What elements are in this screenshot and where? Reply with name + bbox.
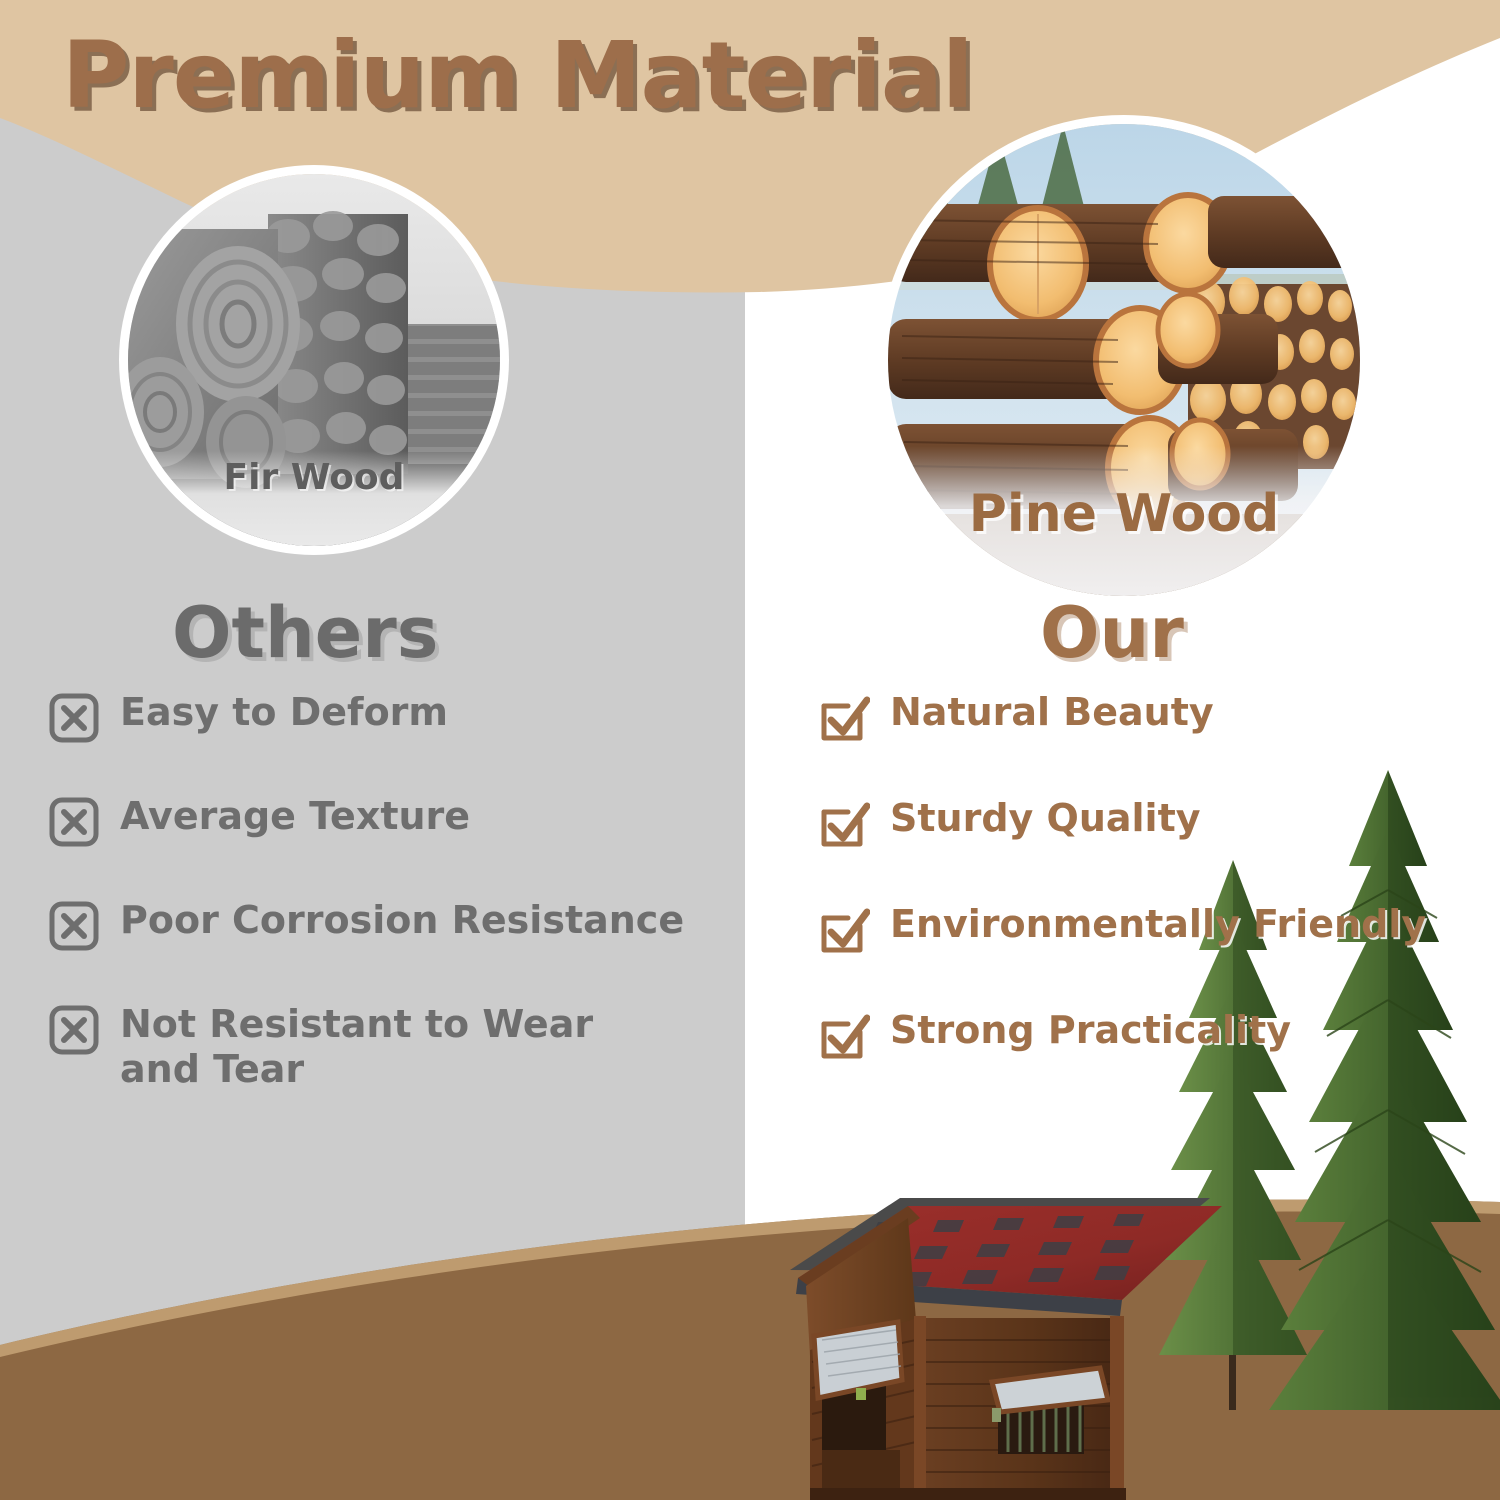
page-title: Premium Material bbox=[62, 22, 973, 129]
check-box-icon bbox=[818, 798, 870, 850]
list-item-label: Poor Corrosion Resistance bbox=[120, 898, 684, 943]
list-item: Strong Practicality bbox=[818, 1008, 1488, 1062]
x-box-icon bbox=[48, 692, 100, 744]
list-item: Environmentally Friendly bbox=[818, 902, 1488, 956]
list-item: Easy to Deform bbox=[48, 690, 738, 744]
our-column-heading: Our bbox=[1040, 592, 1184, 674]
wooden-dog-house-product bbox=[770, 1150, 1330, 1500]
check-box-icon bbox=[818, 1010, 870, 1062]
x-box-icon bbox=[48, 900, 100, 952]
list-item: Natural Beauty bbox=[818, 690, 1488, 744]
list-item-label: Natural Beauty bbox=[890, 690, 1214, 735]
list-item-label: Strong Practicality bbox=[890, 1008, 1291, 1053]
x-box-icon bbox=[48, 1004, 100, 1056]
fir-wood-caption: Fir Wood bbox=[128, 457, 500, 546]
others-feature-list: Easy to Deform Average Texture Poor bbox=[48, 690, 738, 1092]
corner-post-left bbox=[914, 1316, 926, 1500]
window-latch-front bbox=[992, 1408, 1001, 1422]
window-latch-left bbox=[856, 1388, 866, 1400]
list-item: Not Resistant to Wear and Tear bbox=[48, 1002, 738, 1092]
list-item-label: Easy to Deform bbox=[120, 690, 448, 735]
fir-wood-photo-circle: Fir Wood bbox=[128, 174, 500, 546]
list-item-label: Average Texture bbox=[120, 794, 470, 839]
check-box-icon bbox=[818, 904, 870, 956]
base-rail bbox=[810, 1488, 1126, 1500]
pine-wood-photo-circle: Pine Wood bbox=[888, 124, 1360, 596]
pine-wood-caption: Pine Wood bbox=[888, 484, 1360, 596]
list-item: Average Texture bbox=[48, 794, 738, 848]
corner-post-right bbox=[1110, 1316, 1124, 1500]
our-feature-list: Natural Beauty Sturdy Quality Enviro bbox=[818, 690, 1488, 1114]
list-item: Sturdy Quality bbox=[818, 796, 1488, 850]
infographic-canvas: Premium Material bbox=[0, 0, 1500, 1500]
check-box-icon bbox=[818, 692, 870, 744]
list-item: Poor Corrosion Resistance bbox=[48, 898, 738, 952]
others-column-heading: Others bbox=[172, 592, 438, 674]
list-item-label: Sturdy Quality bbox=[890, 796, 1201, 841]
list-item-label: Environmentally Friendly bbox=[890, 902, 1426, 947]
list-item-label: Not Resistant to Wear and Tear bbox=[120, 1002, 680, 1092]
x-box-icon bbox=[48, 796, 100, 848]
